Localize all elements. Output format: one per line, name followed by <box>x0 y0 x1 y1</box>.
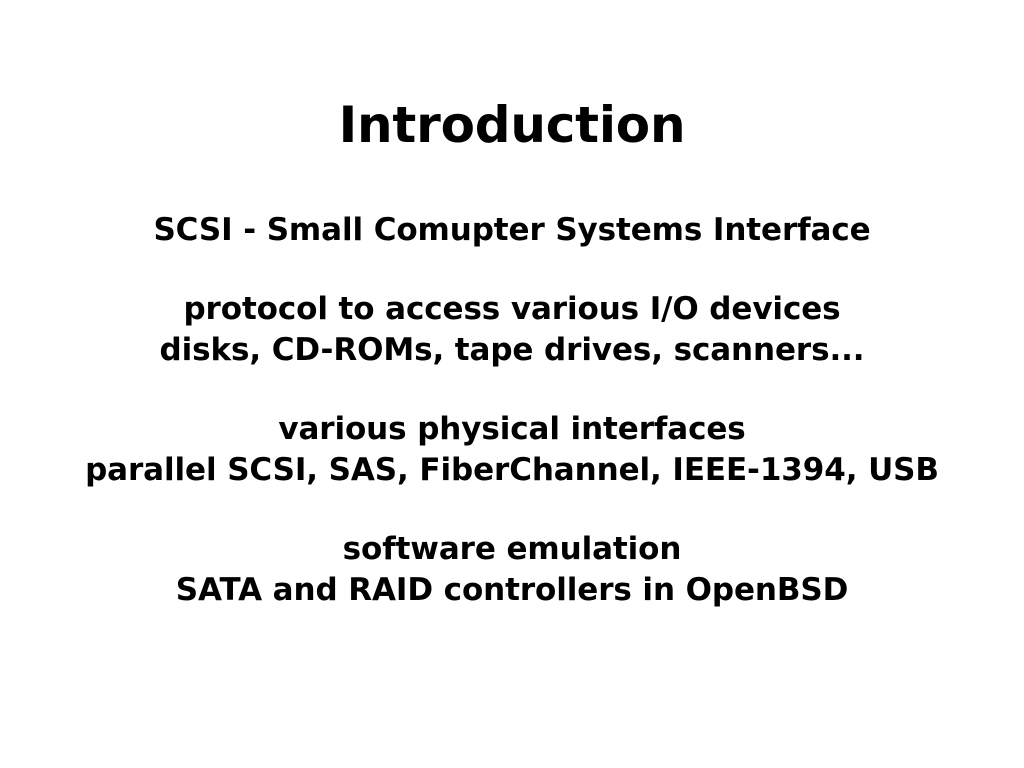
text-line: SATA and RAID controllers in OpenBSD <box>0 570 1024 611</box>
text-line: software emulation <box>0 529 1024 570</box>
text-block-scsi-definition: SCSI - Small Comupter Systems Interface <box>0 210 1024 251</box>
text-line: protocol to access various I/O devices <box>0 289 1024 330</box>
text-block-software-emulation: software emulation SATA and RAID control… <box>0 529 1024 611</box>
page-title: Introduction <box>0 96 1024 154</box>
text-block-protocol-devices: protocol to access various I/O devices d… <box>0 289 1024 371</box>
text-line: disks, CD-ROMs, tape drives, scanners... <box>0 330 1024 371</box>
text-line: SCSI - Small Comupter Systems Interface <box>0 210 1024 251</box>
slide-body: SCSI - Small Comupter Systems Interface … <box>0 210 1024 611</box>
text-line: various physical interfaces <box>0 409 1024 450</box>
text-block-physical-interfaces: various physical interfaces parallel SCS… <box>0 409 1024 491</box>
presentation-slide: Introduction SCSI - Small Comupter Syste… <box>0 0 1024 768</box>
text-line: parallel SCSI, SAS, FiberChannel, IEEE-1… <box>0 450 1024 491</box>
